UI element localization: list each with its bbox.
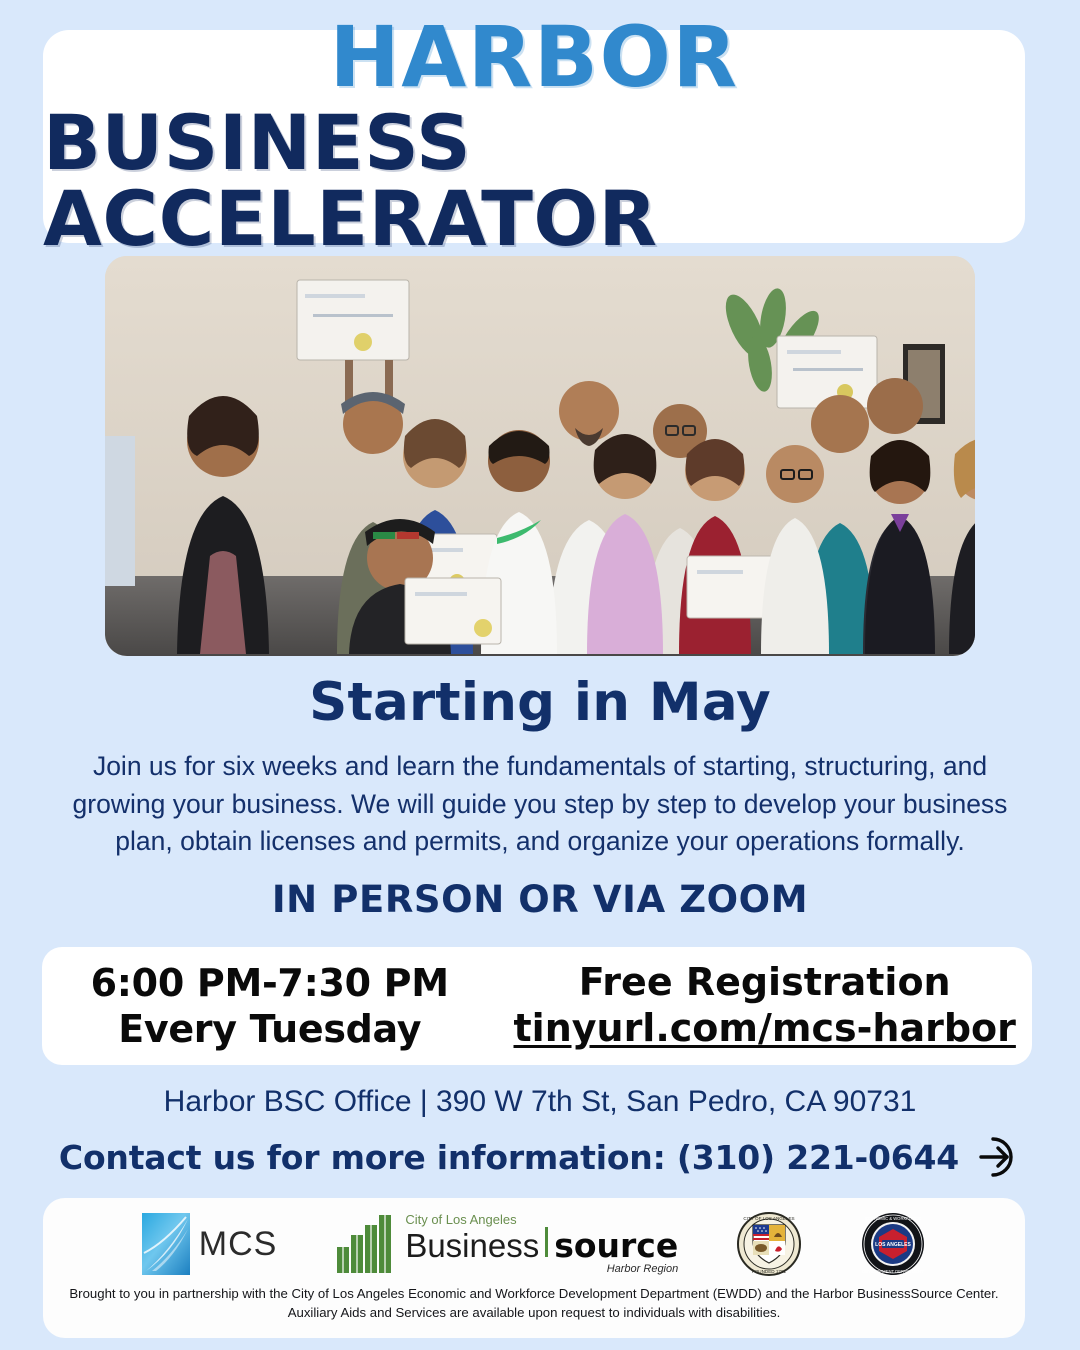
program-description: Join us for six weeks and learn the fund… (62, 748, 1018, 861)
partnership-disclaimer: Brought to you in partnership with the C… (69, 1284, 999, 1322)
mcs-logo: MCS (142, 1213, 278, 1275)
venue-address: Harbor BSC Office | 390 W 7th St, San Pe… (0, 1085, 1080, 1119)
arrow-right-circle-icon (973, 1133, 1021, 1181)
ewdd-bottom-text: DEVELOPMENT DEPARTMENT (863, 1269, 925, 1274)
page-title-secondary: BUSINESS ACCELERATOR (43, 105, 1025, 257)
business-source-tagline: City of Los Angeles (405, 1213, 678, 1226)
city-seal-bottom-text: FOUNDED 1781 (752, 1269, 787, 1274)
contact-cta: Contact us for more information: (310) 2… (59, 1138, 959, 1177)
ewdd-top-text: ECONOMIC & WORKFORCE (865, 1216, 921, 1221)
registration-label: Free Registration (497, 960, 1032, 1006)
starting-headline: Starting in May (0, 672, 1080, 733)
schedule-registration-card: 6:00 PM-7:30 PM Every Tuesday Free Regis… (42, 947, 1032, 1065)
page-title-primary: HARBOR (329, 16, 738, 98)
city-seal-top-text: CITY OF LOS ANGELES (744, 1216, 795, 1221)
photo-illustration (105, 256, 975, 656)
mcs-wordmark: MCS (199, 1225, 278, 1264)
contact-row: Contact us for more information: (310) 2… (0, 1133, 1080, 1181)
city-seal-icon: CITY OF LOS ANGELES FOUNDED 1781 (736, 1211, 802, 1277)
session-day: Every Tuesday (42, 1006, 497, 1052)
ewdd-seal-icon: LOS ANGELES ECONOMIC & WORKFORCE DEVELOP… (860, 1211, 926, 1277)
harbor-region-label: Harbor Region (405, 1263, 678, 1275)
schedule-block: 6:00 PM-7:30 PM Every Tuesday (42, 960, 497, 1053)
business-source-logo: City of Los Angeles Business source Harb… (335, 1213, 678, 1275)
city-of-los-angeles-seal: CITY OF LOS ANGELES FOUNDED 1781 (736, 1211, 802, 1277)
flyer-poster: HARBOR BUSINESS ACCELERATOR (0, 0, 1080, 1350)
source-word: source (554, 1229, 678, 1262)
buildings-icon (335, 1213, 397, 1275)
header-card: HARBOR BUSINESS ACCELERATOR (43, 30, 1025, 243)
partner-logo-row: MCS (43, 1198, 1025, 1284)
ewdd-seal: LOS ANGELES ECONOMIC & WORKFORCE DEVELOP… (860, 1211, 926, 1277)
delivery-format-label: IN PERSON OR VIA ZOOM (0, 878, 1080, 921)
footer-partners-card: MCS (43, 1198, 1025, 1338)
mcs-mark-icon (142, 1213, 190, 1275)
graduates-group-photo (105, 256, 975, 656)
registration-link[interactable]: tinyurl.com/mcs-harbor (514, 1006, 1016, 1050)
session-time: 6:00 PM-7:30 PM (42, 960, 497, 1006)
registration-block: Free Registration tinyurl.com/mcs-harbor (497, 960, 1032, 1051)
business-source-divider (545, 1227, 548, 1257)
business-word: Business (405, 1229, 539, 1262)
ewdd-center-text: LOS ANGELES (875, 1242, 911, 1248)
